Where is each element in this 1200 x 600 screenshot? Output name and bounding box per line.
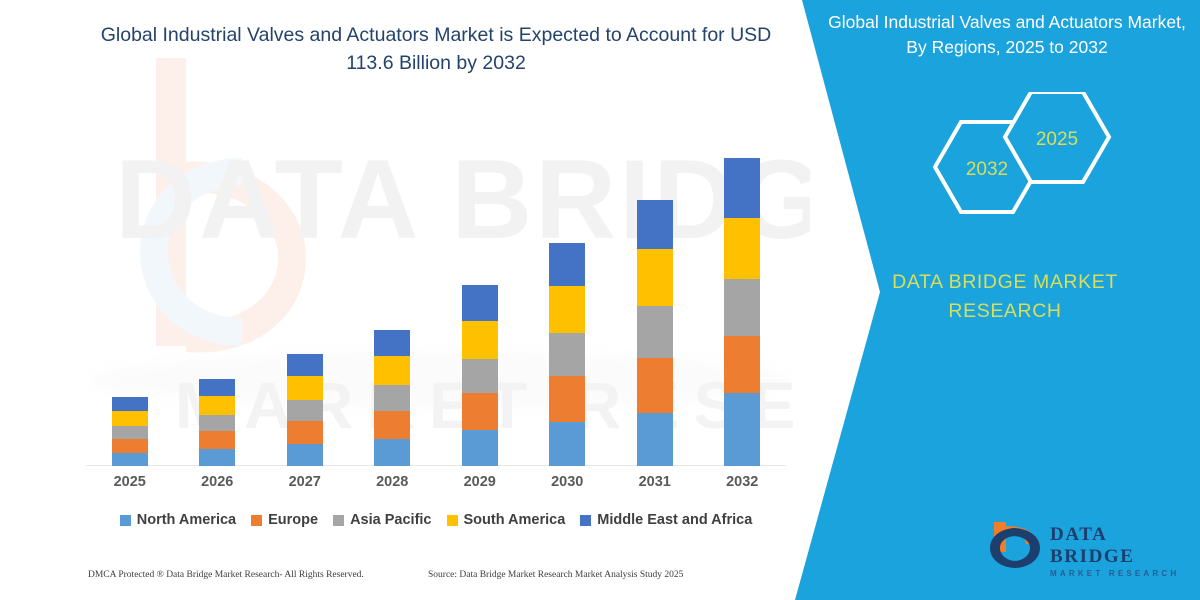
- panel-title: Global Industrial Valves and Actuators M…: [828, 10, 1186, 61]
- x-axis-tick: 2026: [174, 474, 262, 490]
- bar-segment: [462, 393, 498, 430]
- legend-item-asia-pacific[interactable]: Asia Pacific: [333, 512, 431, 528]
- bar-segment: [199, 449, 235, 466]
- panel-content: Global Industrial Valves and Actuators M…: [810, 0, 1200, 600]
- bar-segment: [199, 431, 235, 449]
- x-axis-tick: 2030: [524, 474, 612, 490]
- bar-slot: [436, 140, 524, 466]
- chart-legend: North America Europe Asia Pacific South …: [86, 512, 786, 528]
- bar-segment: [112, 397, 148, 411]
- bar-segment: [637, 358, 673, 413]
- bar-segment: [462, 321, 498, 359]
- legend-label: Middle East and Africa: [597, 512, 752, 528]
- brand-line-1: DATA BRIDGE MARKET: [892, 271, 1118, 293]
- bar-segment: [199, 396, 235, 415]
- bar-segment: [724, 218, 760, 279]
- legend-swatch-icon: [580, 515, 591, 526]
- x-axis-tick: 2025: [86, 474, 174, 490]
- bar-segment: [549, 422, 585, 466]
- legend-swatch-icon: [251, 515, 262, 526]
- bar-segment: [724, 279, 760, 336]
- bar-segment: [112, 426, 148, 439]
- logo-text: DATA BRIDGE MARKET RESEARCH: [1050, 524, 1188, 578]
- bar-segment: [374, 385, 410, 411]
- bar-segment: [112, 439, 148, 453]
- bar-segment: [374, 356, 410, 385]
- bar-segment: [637, 249, 673, 306]
- logo-title: DATA BRIDGE: [1050, 524, 1188, 568]
- bar-segment: [287, 444, 323, 466]
- hexagon-2032-label: 2032: [966, 159, 1008, 180]
- bar-slot: [86, 140, 174, 466]
- table-row[interactable]: [724, 158, 760, 466]
- legend-label: South America: [464, 512, 566, 528]
- bar-slot: [261, 140, 349, 466]
- legend-item-europe[interactable]: Europe: [251, 512, 318, 528]
- table-row[interactable]: [462, 285, 498, 466]
- bar-slot: [174, 140, 262, 466]
- data-bridge-logo-icon: [988, 518, 1044, 570]
- table-row[interactable]: [112, 397, 148, 466]
- legend-item-middle-east-and-africa[interactable]: Middle East and Africa: [580, 512, 752, 528]
- bar-segment: [549, 286, 585, 333]
- bar-segment: [287, 354, 323, 376]
- x-axis-tick: 2028: [349, 474, 437, 490]
- bar-slot: [611, 140, 699, 466]
- bar-segment: [287, 421, 323, 444]
- stacked-bar-chart: [86, 140, 786, 466]
- chart-bars: [86, 140, 786, 466]
- table-row[interactable]: [287, 354, 323, 466]
- footer: DMCA Protected ® Data Bridge Market Rese…: [0, 566, 800, 596]
- bar-segment: [112, 453, 148, 466]
- x-axis-tick: 2031: [611, 474, 699, 490]
- x-axis-labels: 2025 2026 2027 2028 2029 2030 2031 2032: [86, 474, 786, 490]
- legend-label: Europe: [268, 512, 318, 528]
- bar-segment: [724, 393, 760, 466]
- table-row[interactable]: [199, 379, 235, 466]
- bar-segment: [549, 243, 585, 286]
- bar-segment: [112, 411, 148, 426]
- table-row[interactable]: [374, 330, 410, 466]
- bar-segment: [637, 413, 673, 466]
- table-row[interactable]: [549, 243, 585, 466]
- legend-label: North America: [137, 512, 236, 528]
- bar-segment: [549, 376, 585, 422]
- x-axis-tick: 2029: [436, 474, 524, 490]
- bar-segment: [287, 400, 323, 421]
- bar-segment: [724, 336, 760, 393]
- legend-item-north-america[interactable]: North America: [120, 512, 236, 528]
- legend-swatch-icon: [333, 515, 344, 526]
- brand-name: DATA BRIDGE MARKET RESEARCH: [830, 268, 1180, 327]
- copyright-text: DMCA Protected ® Data Bridge Market Rese…: [88, 570, 364, 580]
- bar-segment: [637, 306, 673, 358]
- bar-segment: [462, 359, 498, 393]
- table-row[interactable]: [637, 200, 673, 466]
- bar-segment: [462, 285, 498, 321]
- logo-subtitle: MARKET RESEARCH: [1050, 569, 1188, 578]
- bar-segment: [549, 333, 585, 376]
- bar-segment: [724, 158, 760, 218]
- x-axis-tick: 2027: [261, 474, 349, 490]
- legend-swatch-icon: [120, 515, 131, 526]
- bar-segment: [199, 415, 235, 431]
- bar-segment: [374, 439, 410, 466]
- hexagon-2025-label: 2025: [1036, 129, 1078, 150]
- hexagon-group: 2032 2025: [810, 92, 1200, 232]
- bar-slot: [699, 140, 787, 466]
- bar-segment: [374, 330, 410, 356]
- source-text: Source: Data Bridge Market Research Mark…: [428, 570, 683, 580]
- page-title: Global Industrial Valves and Actuators M…: [86, 22, 786, 77]
- legend-label: Asia Pacific: [350, 512, 431, 528]
- brand-line-2: RESEARCH: [830, 297, 1180, 326]
- bar-segment: [462, 430, 498, 466]
- bar-slot: [524, 140, 612, 466]
- bar-segment: [199, 379, 235, 396]
- legend-swatch-icon: [447, 515, 458, 526]
- bar-segment: [374, 411, 410, 439]
- bar-slot: [349, 140, 437, 466]
- company-logo: DATA BRIDGE MARKET RESEARCH: [988, 518, 1188, 574]
- x-axis-tick: 2032: [699, 474, 787, 490]
- legend-item-south-america[interactable]: South America: [447, 512, 566, 528]
- bar-segment: [287, 376, 323, 400]
- bar-segment: [637, 200, 673, 249]
